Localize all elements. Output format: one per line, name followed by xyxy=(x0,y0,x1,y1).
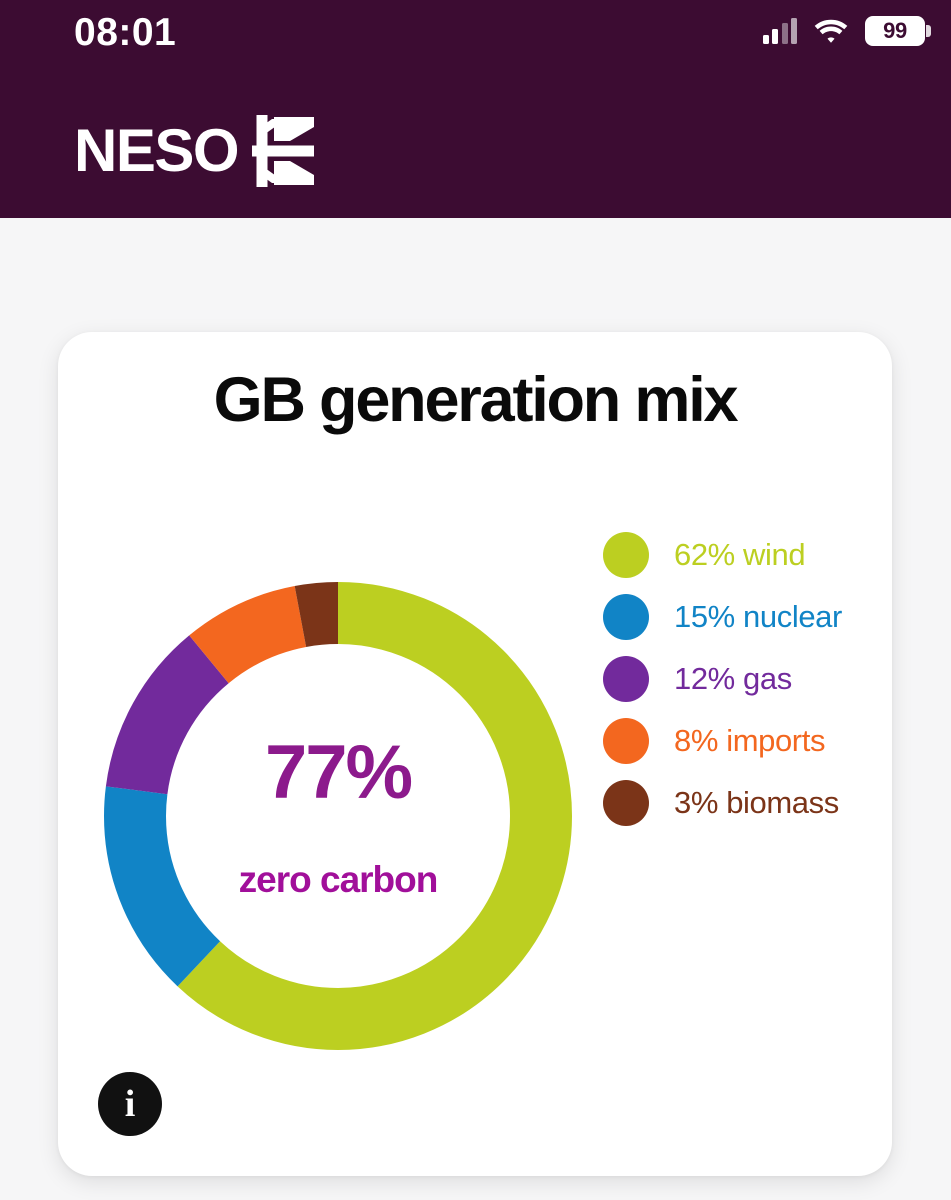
info-icon: i xyxy=(125,1085,136,1123)
app-header: 08:01 99 NESO xyxy=(0,0,951,218)
legend-item-gas[interactable]: 12% gas xyxy=(603,648,873,710)
generation-mix-donut-chart: 77% zero carbon xyxy=(104,582,572,1050)
donut-svg xyxy=(104,582,572,1050)
legend-item-wind[interactable]: 62% wind xyxy=(603,524,873,586)
battery-icon: 99 xyxy=(865,16,925,46)
status-bar: 08:01 99 xyxy=(0,0,951,70)
legend-label-wind: 62% wind xyxy=(674,537,805,573)
page-title: GB generation mix xyxy=(58,364,892,436)
legend-swatch-nuclear-icon xyxy=(603,594,649,640)
wifi-icon xyxy=(814,18,848,44)
legend-swatch-imports-icon xyxy=(603,718,649,764)
generation-mix-card: GB generation mix 77% zero carbon 62% wi… xyxy=(58,332,892,1176)
legend-label-gas: 12% gas xyxy=(674,661,792,697)
legend-label-imports: 8% imports xyxy=(674,723,825,759)
app-root: 08:01 99 NESO xyxy=(0,0,951,1200)
legend-label-nuclear: 15% nuclear xyxy=(674,599,842,635)
info-button[interactable]: i xyxy=(98,1072,162,1136)
legend-swatch-gas-icon xyxy=(603,656,649,702)
legend-swatch-wind-icon xyxy=(603,532,649,578)
legend-label-biomass: 3% biomass xyxy=(674,785,839,821)
cellular-signal-icon xyxy=(763,18,798,44)
legend-item-imports[interactable]: 8% imports xyxy=(603,710,873,772)
battery-level-label: 99 xyxy=(883,18,907,44)
legend-swatch-biomass-icon xyxy=(603,780,649,826)
status-bar-indicators: 99 xyxy=(763,16,926,46)
brand-wordmark: NESO xyxy=(74,121,238,181)
chart-legend: 62% wind15% nuclear12% gas8% imports3% b… xyxy=(603,524,873,834)
legend-item-nuclear[interactable]: 15% nuclear xyxy=(603,586,873,648)
neso-logo: NESO xyxy=(74,113,314,189)
uk-flag-icon xyxy=(234,113,314,189)
status-bar-time: 08:01 xyxy=(74,11,176,55)
legend-item-biomass[interactable]: 3% biomass xyxy=(603,772,873,834)
